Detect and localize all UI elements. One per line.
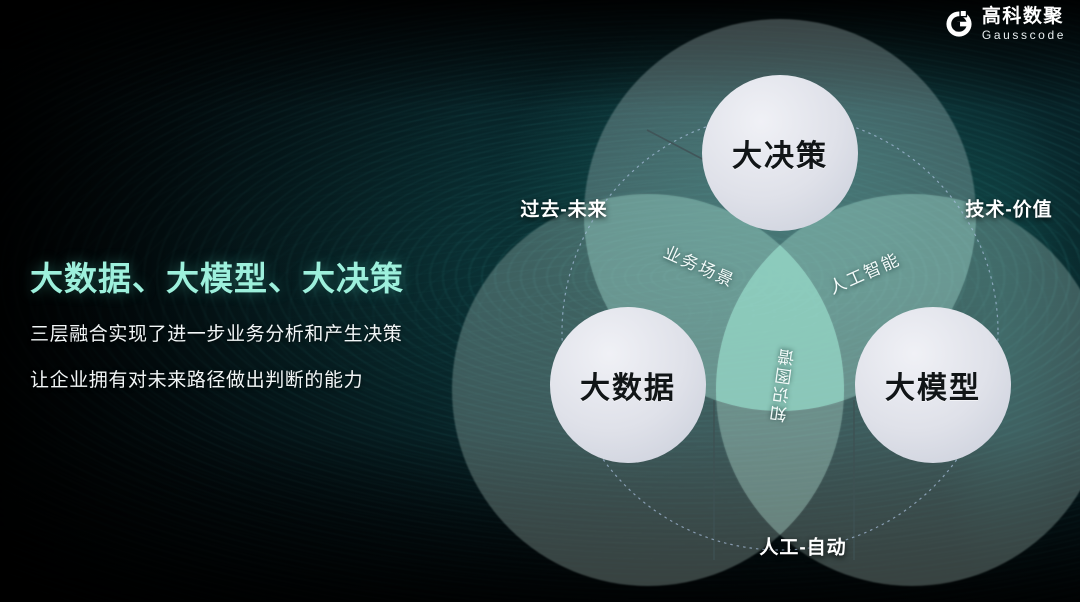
core-label-bigdata: 大数据 <box>580 363 676 407</box>
axis-label-past-future: 过去-未来 <box>520 195 607 222</box>
slide-canvas: 大决策 大数据 大模型 业务场景 人工智能 知识图谱 过去-未来 技术-价值 人… <box>0 0 1080 602</box>
page-title: 大数据、大模型、大决策 <box>30 252 470 300</box>
axis-label-manual-auto: 人工-自动 <box>759 533 846 560</box>
axis-label-tech-value: 技术-价值 <box>965 195 1052 222</box>
brand-name-cn: 高科数聚 <box>982 7 1066 26</box>
core-label-decision: 大决策 <box>732 131 828 175</box>
brand-logo: 高科数聚 Gausscode <box>944 7 1066 41</box>
core-label-model: 大模型 <box>885 363 981 407</box>
subtitle-line-2: 让企业拥有对未来路径做出判断的能力 <box>30 365 470 392</box>
subtitle-line-1: 三层融合实现了进一步业务分析和产生决策 <box>30 319 470 346</box>
copy-block: 大数据、大模型、大决策 三层融合实现了进一步业务分析和产生决策 让企业拥有对未来… <box>30 252 470 392</box>
gausscode-g-mark-icon <box>944 9 974 39</box>
brand-name-en: Gausscode <box>982 29 1066 41</box>
